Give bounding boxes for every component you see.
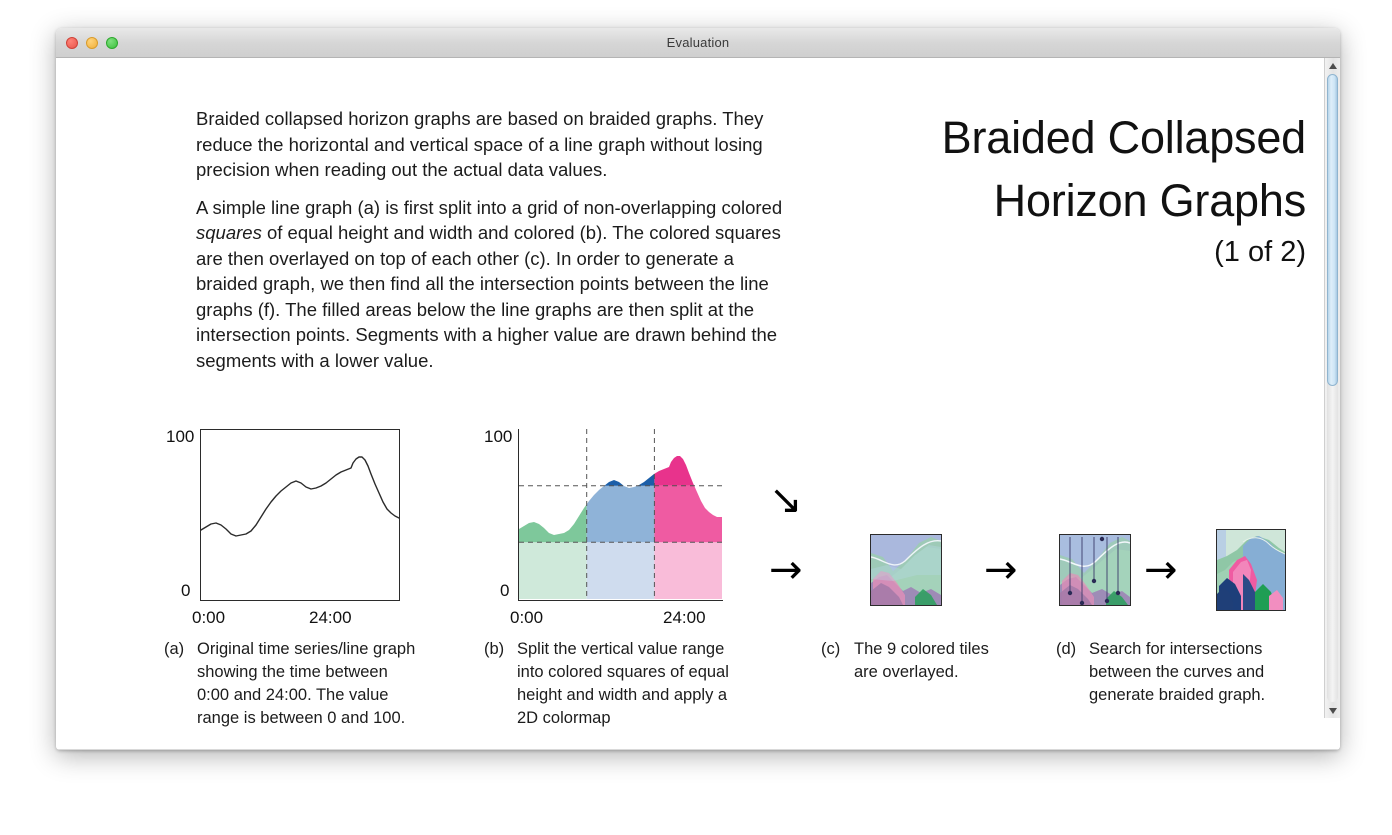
vertical-scrollbar[interactable] xyxy=(1324,58,1340,718)
figure-b-caption-tag: (b) xyxy=(484,638,504,661)
figure-a-line-chart xyxy=(201,430,399,600)
figure-c-overlay-tile xyxy=(870,534,942,606)
figure-d: → xyxy=(1056,393,1306,623)
figure-d-caption-body: Search for intersections between the cur… xyxy=(1089,638,1286,707)
figure-b-caption: (b) Split the vertical value range into … xyxy=(484,638,749,730)
figure-c-overlay-svg xyxy=(871,535,941,605)
figure-a: 100 0 0:00 24:00 (a) Original time serie… xyxy=(156,393,416,623)
intro-paragraph-2: A simple line graph (a) is first split i… xyxy=(196,195,786,374)
window-content: Braided collapsed horizon graphs are bas… xyxy=(56,58,1340,750)
figure-d-intersections-svg xyxy=(1060,535,1130,605)
page-title-line-1: Braided Collapsed xyxy=(846,106,1306,169)
figure-b-y-max-label: 100 xyxy=(484,427,512,447)
arrow-right-icon-1: → xyxy=(769,550,803,590)
page-title-subtitle: (1 of 2) xyxy=(846,232,1306,272)
window-bottom-divider xyxy=(56,749,1340,750)
figure-b-plot xyxy=(518,429,723,601)
figure-d-intersections-tile xyxy=(1059,534,1131,606)
figure-d-caption-tag: (d) xyxy=(1056,638,1076,661)
scrollbar-thumb[interactable] xyxy=(1327,74,1338,386)
figure-a-x-right-label: 24:00 xyxy=(309,608,352,628)
page-title-line-2: Horizon Graphs xyxy=(846,169,1306,232)
arrow-right-icon-2: → xyxy=(984,550,1018,590)
figure-b-caption-body: Split the vertical value range into colo… xyxy=(517,638,749,730)
figure-a-caption-body: Original time series/line graph showing … xyxy=(197,638,424,730)
arrow-down-right-icon: ↘ xyxy=(769,480,803,520)
figure-c-caption-tag: (c) xyxy=(821,638,840,661)
intro-p2-part1: A simple line graph (a) is first split i… xyxy=(196,197,782,218)
figure-a-caption: (a) Original time series/line graph show… xyxy=(164,638,424,730)
figure-a-plot xyxy=(200,429,400,601)
figure-b-y-min-label: 0 xyxy=(500,581,509,601)
figure-a-caption-tag: (a) xyxy=(164,638,184,661)
figure-a-series-line xyxy=(201,457,399,536)
figure-c-caption: (c) The 9 colored tiles are overlayed. xyxy=(821,638,1011,684)
scroll-down-arrow-icon[interactable] xyxy=(1325,703,1340,718)
window-title: Evaluation xyxy=(56,28,1340,58)
figure-b: 100 0 0:00 24:00 xyxy=(478,393,748,623)
intro-p2-italic: squares xyxy=(196,222,262,243)
figure-a-y-max-label: 100 xyxy=(166,427,194,447)
arrow-right-icon-3: → xyxy=(1144,550,1178,590)
intro-paragraph-1: Braided collapsed horizon graphs are bas… xyxy=(196,106,786,183)
intro-text: Braided collapsed horizon graphs are bas… xyxy=(196,106,786,385)
scroll-up-arrow-icon[interactable] xyxy=(1325,58,1340,73)
figure-d-caption: (d) Search for intersections between the… xyxy=(1056,638,1286,707)
application-window: Evaluation Braided collapsed horizon gra… xyxy=(56,28,1340,750)
figure-a-x-left-label: 0:00 xyxy=(192,608,225,628)
figure-a-y-min-label: 0 xyxy=(181,581,190,601)
figure-b-x-left-label: 0:00 xyxy=(510,608,543,628)
intro-p2-part2: of equal height and width and colored (b… xyxy=(196,222,781,371)
page-title: Braided Collapsed Horizon Graphs (1 of 2… xyxy=(846,106,1306,272)
window-titlebar: Evaluation xyxy=(56,28,1340,58)
figure-d-braided-tile xyxy=(1216,529,1286,611)
screenshot-root: Evaluation Braided collapsed horizon gra… xyxy=(0,0,1392,835)
figure-b-banded-chart xyxy=(519,429,722,599)
figure-c-caption-body: The 9 colored tiles are overlayed. xyxy=(854,638,1011,684)
figure-b-x-right-label: 24:00 xyxy=(663,608,706,628)
figure-d-braided-svg xyxy=(1217,530,1285,610)
